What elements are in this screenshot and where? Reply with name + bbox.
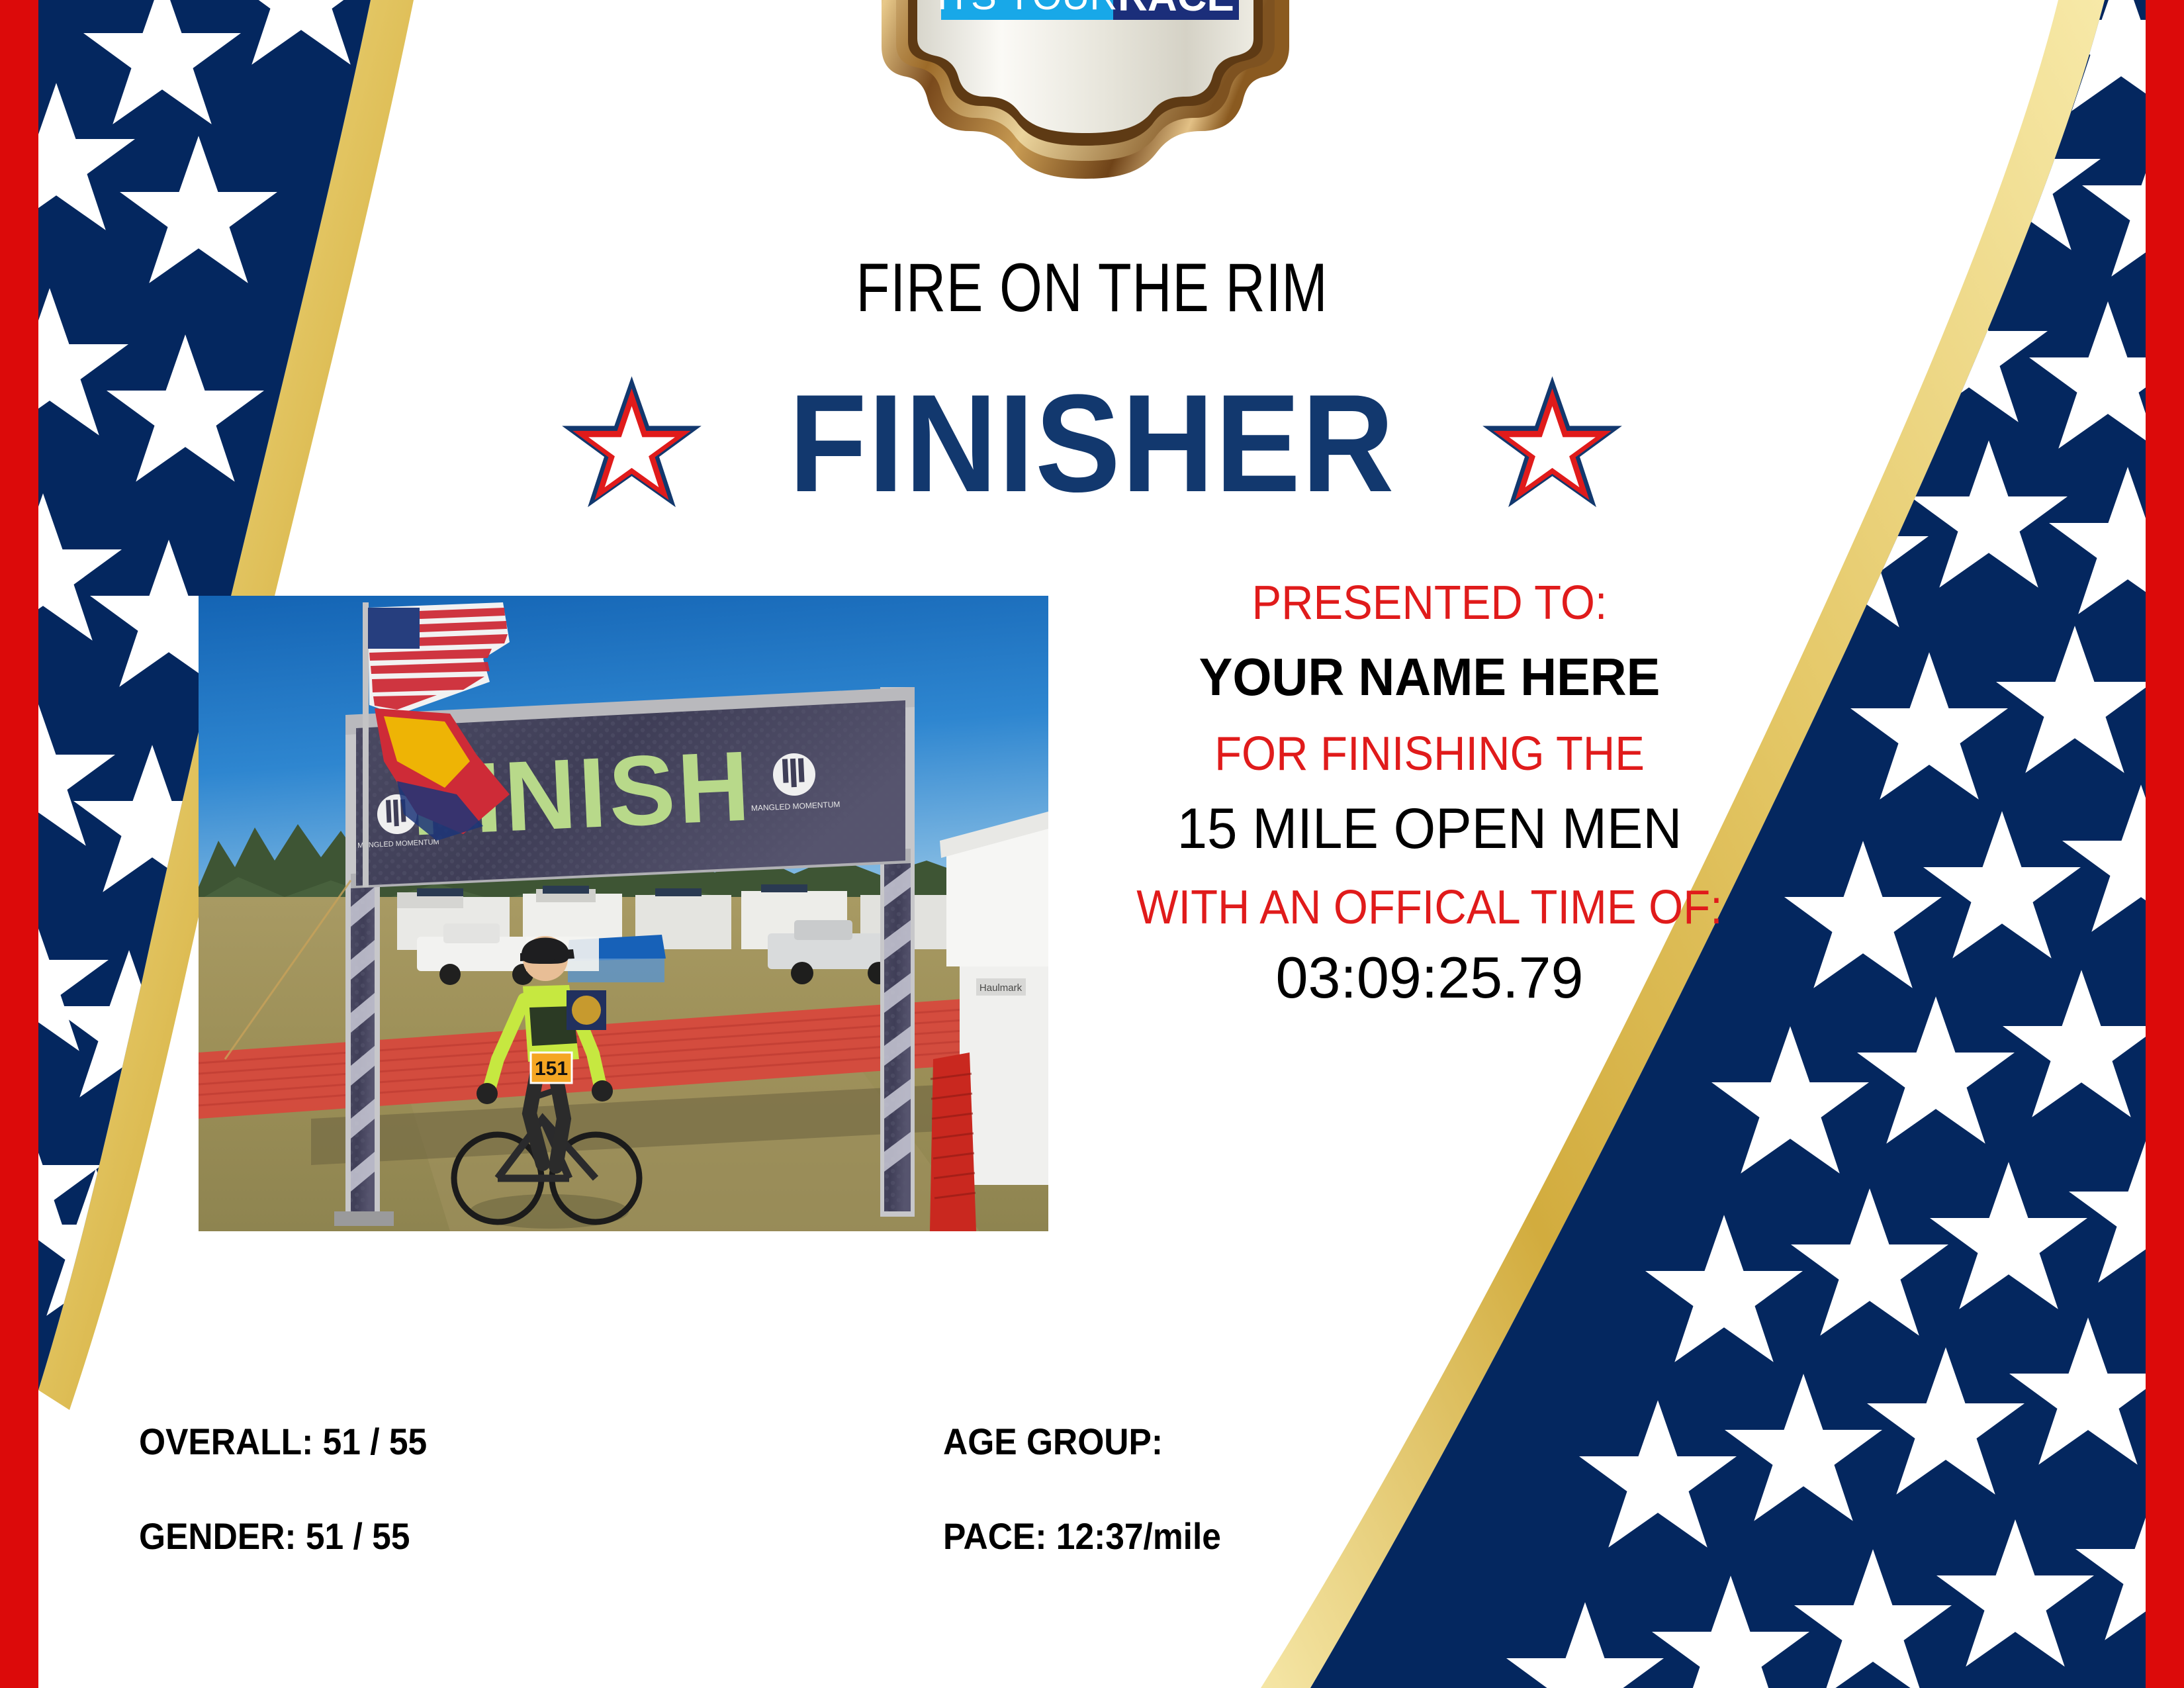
page-title: FIRE ON THE RIM — [218, 254, 1966, 322]
logo-race-text: RACE — [1118, 0, 1234, 20]
stat-age-group: AGE GROUP: — [943, 1420, 1357, 1463]
results-stats: OVERALL: 51 / 55 AGE GROUP: GENDER: 51 /… — [139, 1420, 1396, 1609]
official-time-label: WITH AN OFFICAL TIME OF: — [1116, 884, 1744, 931]
stat-pace: PACE: 12:37/mile — [943, 1515, 1357, 1558]
patriotic-star-icon-left — [561, 373, 703, 515]
stats-row-1: OVERALL: 51 / 55 AGE GROUP: — [139, 1420, 1396, 1463]
official-time-value: 03:09:25.79 — [1092, 949, 1767, 1007]
photo-course-sign — [567, 990, 606, 1030]
logo-its-your-text: ITS YOUR — [937, 0, 1118, 18]
left-red-stripe — [0, 0, 38, 1688]
its-your-race-logo[interactable]: ITS YOUR RACE — [867, 0, 1304, 192]
event-name: 15 MILE OPEN MEN — [1109, 800, 1751, 857]
award-title: FINISHER — [789, 374, 1395, 513]
finisher-heading-row: FINISHER — [0, 361, 2184, 526]
svg-text:Haulmark: Haulmark — [979, 982, 1023, 994]
patriotic-star-icon-right — [1481, 373, 1623, 515]
for-finishing-label: FOR FINISHING THE — [1116, 730, 1744, 778]
recipient-name: YOUR NAME HERE — [1109, 651, 1751, 704]
stat-overall: OVERALL: 51 / 55 — [139, 1420, 879, 1463]
finish-line-photo: FINISH MANGLED MOMENTUM MANGLED MOMENTUM — [199, 596, 1048, 1231]
finisher-certificate: ITS YOUR RACE FIRE ON THE RIM FINISHER — [0, 0, 2184, 1688]
presented-to-label: PRESENTED TO: — [1116, 579, 1744, 627]
stat-gender: GENDER: 51 / 55 — [139, 1515, 879, 1558]
award-details: PRESENTED TO: YOUR NAME HERE FOR FINISHI… — [1092, 579, 1767, 1007]
photo-red-barrier — [930, 1053, 976, 1231]
stats-row-2: GENDER: 51 / 55 PACE: 12:37/mile — [139, 1515, 1396, 1558]
photo-bib-number: 151 — [535, 1058, 568, 1080]
right-red-stripe — [2146, 0, 2184, 1688]
